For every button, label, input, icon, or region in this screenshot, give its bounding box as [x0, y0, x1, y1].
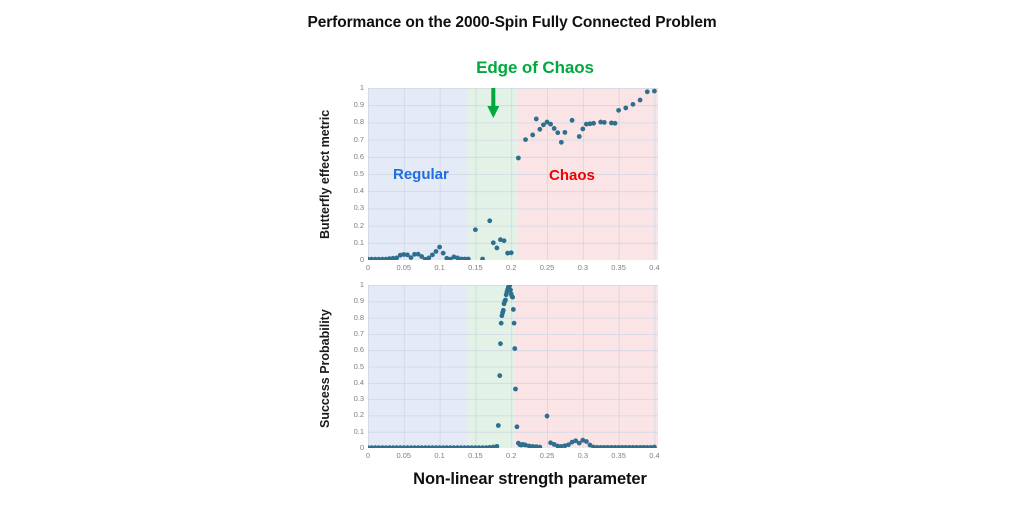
- data-point: [501, 308, 506, 313]
- y-tick-label: 0.6: [332, 152, 364, 161]
- y-tick-label: 0.8: [332, 313, 364, 322]
- region-label-chaos: Chaos: [549, 167, 595, 184]
- data-point: [552, 126, 557, 131]
- x-tick-label: 0.05: [389, 263, 419, 272]
- y-tick-label: 0.1: [332, 427, 364, 436]
- data-point: [498, 341, 503, 346]
- x-tick-label: 0: [353, 451, 383, 460]
- data-point: [497, 373, 502, 378]
- data-point: [645, 89, 650, 94]
- data-point: [545, 414, 550, 419]
- y-tick-label: 0.4: [332, 186, 364, 195]
- y-axis-title-top: Butterfly effect metric: [318, 85, 332, 263]
- x-tick-label: 0.05: [389, 451, 419, 460]
- data-point: [638, 98, 643, 103]
- x-tick-label: 0: [353, 263, 383, 272]
- data-point: [616, 108, 621, 113]
- scatter-plot-success-probability: [368, 285, 658, 448]
- data-point: [591, 121, 596, 126]
- y-tick-label: 1: [332, 280, 364, 289]
- y-tick-label: 0.2: [332, 221, 364, 230]
- region-band-chaos: [515, 285, 658, 448]
- y-tick-label: 0.5: [332, 169, 364, 178]
- edge-of-chaos-annotation: Edge of Chaos: [380, 58, 690, 78]
- data-point: [434, 249, 439, 254]
- chart-panel-success-probability: [368, 285, 658, 448]
- data-point: [563, 130, 568, 135]
- data-point: [487, 218, 492, 223]
- data-point: [548, 122, 553, 127]
- data-point: [499, 321, 504, 326]
- data-point: [473, 227, 478, 232]
- x-tick-label: 0.35: [604, 263, 634, 272]
- data-point: [537, 127, 542, 132]
- data-point: [496, 423, 501, 428]
- y-tick-label: 0.8: [332, 117, 364, 126]
- data-point: [631, 102, 636, 107]
- y-tick-label: 0.7: [332, 329, 364, 338]
- y-tick-label: 0.9: [332, 296, 364, 305]
- y-tick-label: 1: [332, 83, 364, 92]
- data-point: [494, 246, 499, 251]
- x-tick-label: 0.15: [460, 263, 490, 272]
- data-point: [555, 130, 560, 135]
- data-point: [441, 251, 446, 256]
- data-point: [559, 140, 564, 145]
- y-tick-label: 0.3: [332, 394, 364, 403]
- data-point: [508, 287, 513, 292]
- y-tick-label: 0.1: [332, 238, 364, 247]
- data-point: [437, 245, 442, 250]
- y-tick-label: 0.9: [332, 100, 364, 109]
- data-point: [516, 156, 521, 161]
- data-point: [409, 255, 414, 260]
- data-point: [503, 298, 508, 303]
- x-tick-label: 0.1: [425, 263, 455, 272]
- region-band-edge-of-chaos: [468, 285, 515, 448]
- y-tick-label: 0.4: [332, 378, 364, 387]
- region-label-regular: Regular: [393, 166, 449, 183]
- data-point: [512, 321, 517, 326]
- data-point: [613, 121, 618, 126]
- y-tick-label: 0.7: [332, 135, 364, 144]
- y-tick-label: 0.6: [332, 345, 364, 354]
- x-tick-label: 0.2: [496, 451, 526, 460]
- region-band-regular: [368, 285, 468, 448]
- data-point: [602, 120, 607, 125]
- x-tick-label: 0.35: [604, 451, 634, 460]
- x-tick-label: 0.4: [639, 263, 669, 272]
- x-tick-label: 0.15: [460, 451, 490, 460]
- data-point: [577, 134, 582, 139]
- data-point: [511, 307, 516, 312]
- data-point: [430, 252, 435, 257]
- x-tick-label: 0.25: [532, 263, 562, 272]
- x-tick-label: 0.3: [568, 263, 598, 272]
- x-tick-label: 0.25: [532, 451, 562, 460]
- figure-root: Performance on the 2000-Spin Fully Conne…: [0, 0, 1024, 512]
- data-point: [515, 424, 520, 429]
- data-point: [512, 346, 517, 351]
- y-tick-label: 0.2: [332, 410, 364, 419]
- data-point: [491, 240, 496, 245]
- data-point: [623, 106, 628, 111]
- data-point: [523, 137, 528, 142]
- y-tick-label: 0.3: [332, 203, 364, 212]
- data-point: [530, 133, 535, 138]
- data-point: [580, 127, 585, 132]
- y-axis-title-bottom: Success Probability: [318, 283, 332, 455]
- data-point: [584, 439, 589, 444]
- x-tick-label: 0.1: [425, 451, 455, 460]
- y-tick-label: 0.5: [332, 362, 364, 371]
- x-tick-label: 0.4: [639, 451, 669, 460]
- figure-title: Performance on the 2000-Spin Fully Conne…: [0, 14, 1024, 32]
- data-point: [509, 250, 514, 255]
- x-tick-label: 0.2: [496, 263, 526, 272]
- data-point: [502, 238, 507, 243]
- data-point: [513, 387, 518, 392]
- data-point: [534, 117, 539, 122]
- data-point: [570, 118, 575, 123]
- data-point: [510, 295, 515, 300]
- x-tick-label: 0.3: [568, 451, 598, 460]
- x-axis-title: Non-linear strength parameter: [300, 470, 760, 489]
- data-point: [652, 89, 657, 94]
